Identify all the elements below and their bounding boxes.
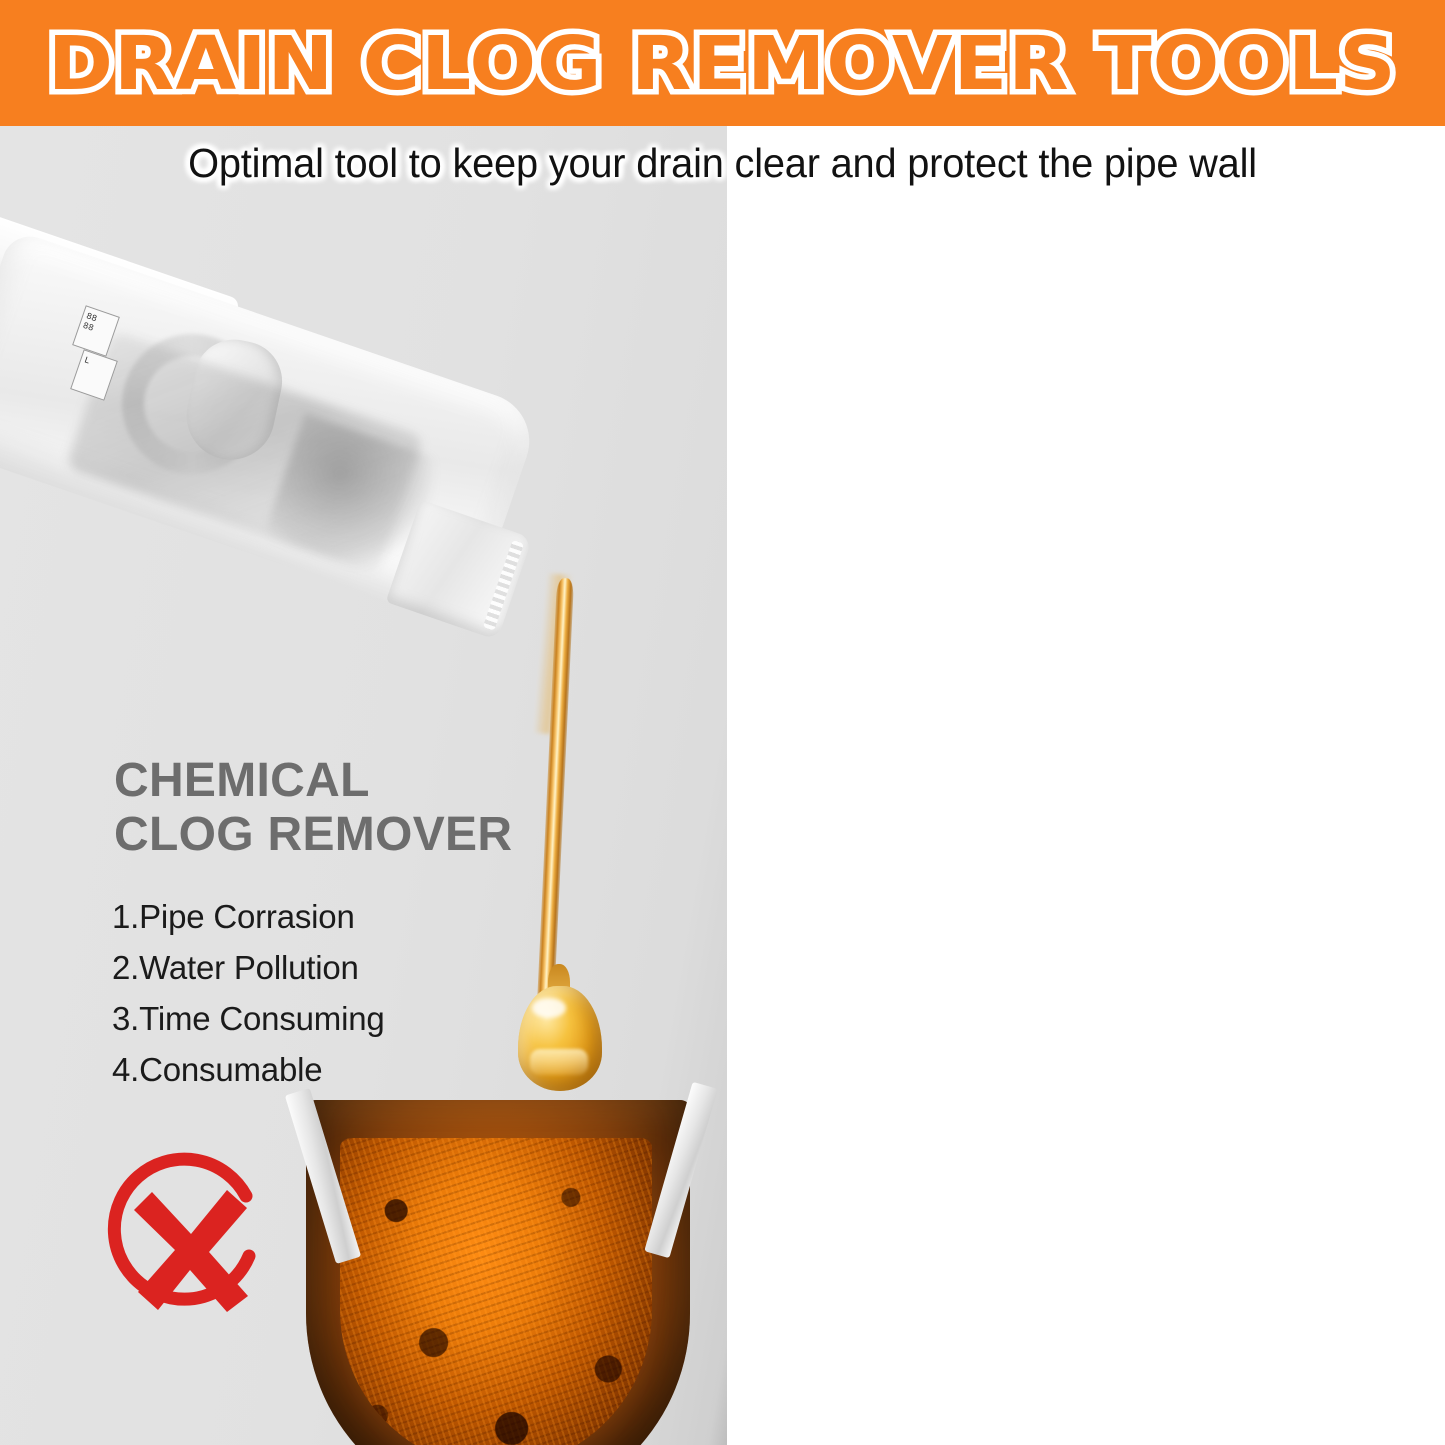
- header-banner: DRAIN CLOG REMOVER TOOLS: [0, 0, 1445, 126]
- drawbacks-list: 1.Pipe Corrasion 2.Water Pollution 3.Tim…: [112, 891, 385, 1095]
- subtitle-text: Optimal tool to keep your drain clear an…: [22, 140, 1424, 187]
- right-panel-tool: Durable Anti-aging Recycle Material: [727, 126, 1445, 1445]
- x-mark-icon: [96, 1152, 286, 1342]
- list-item: 2.Water Pollution: [112, 942, 385, 993]
- infographic-page: DRAIN CLOG REMOVER TOOLS 8888 L CHEMICAL…: [0, 0, 1445, 1445]
- list-item: 1.Pipe Corrasion: [112, 891, 385, 942]
- rust-texture: [340, 1138, 652, 1445]
- list-item: 3.Time Consuming: [112, 993, 385, 1044]
- left-panel-chemical: 8888 L CHEMICALCLOG REMOVER 1.Pipe Corra…: [0, 126, 727, 1445]
- corroded-pipe-cross-section: [288, 1076, 708, 1445]
- page-title: DRAIN CLOG REMOVER TOOLS: [48, 27, 1397, 101]
- pipe-rust-buildup: [340, 1138, 652, 1445]
- chemical-heading: CHEMICALCLOG REMOVER: [114, 754, 512, 862]
- chemical-bottle: 8888 L: [0, 254, 590, 654]
